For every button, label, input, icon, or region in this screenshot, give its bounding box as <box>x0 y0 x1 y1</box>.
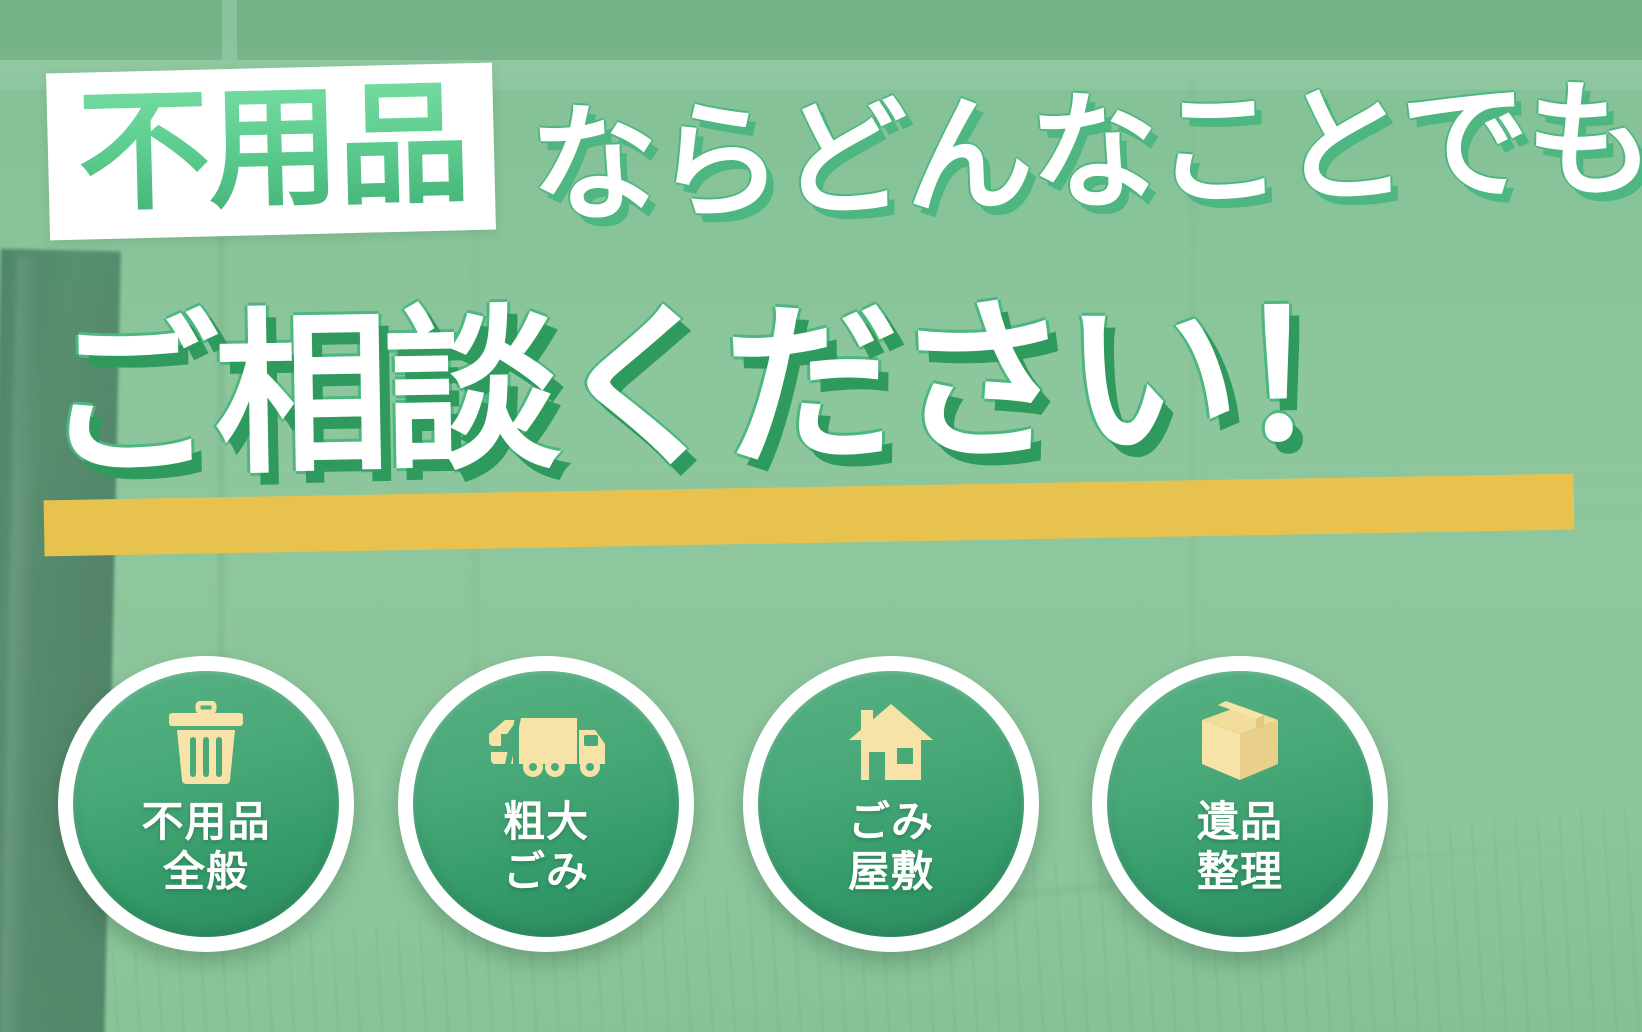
highlight-box-text: 不用品 <box>76 77 469 221</box>
highlight-box: 不用品 <box>46 63 496 240</box>
trash-can-icon <box>167 701 245 785</box>
badge-label: 不用品 全般 <box>141 797 270 896</box>
badge-label-line-1: 粗大 <box>503 797 589 847</box>
badge-label: 粗大 ごみ <box>503 797 589 896</box>
headline-line-1: 不用品 ならどんなことでも <box>48 68 1642 235</box>
garbage-truck-icon <box>485 701 607 785</box>
cardboard-box-icon <box>1196 701 1284 785</box>
badge-inner: 遺品 整理 <box>1107 671 1373 937</box>
badge-label-line-2: ごみ <box>503 847 589 897</box>
badge-label-line-1: 遺品 <box>1197 797 1283 847</box>
service-badge-row: 不用品 全般 粗大 ご <box>0 648 1642 978</box>
service-badge-general-waste[interactable]: 不用品 全般 <box>58 656 354 952</box>
service-badge-estate-cleanup[interactable]: 遺品 整理 <box>1092 656 1388 952</box>
badge-label: 遺品 整理 <box>1197 797 1283 896</box>
headline-line-1-rest: ならどんなことでも <box>529 76 1642 231</box>
badge-label-line-2: 整理 <box>1197 847 1283 897</box>
badge-label-line-2: 全般 <box>141 847 270 897</box>
house-icon <box>847 701 935 785</box>
service-badge-bulky-waste[interactable]: 粗大 ごみ <box>398 656 694 952</box>
headline-group: 不用品 ならどんなことでも ご相談ください！ <box>0 0 1642 620</box>
badge-inner: 不用品 全般 <box>73 671 339 937</box>
badge-inner: 粗大 ごみ <box>413 671 679 937</box>
badge-label: ごみ 屋敷 <box>848 797 934 896</box>
badge-label-line-1: ごみ <box>848 797 934 847</box>
headline-line-2: ご相談ください！ <box>43 288 1406 488</box>
service-badge-hoarder-house[interactable]: ごみ 屋敷 <box>743 656 1039 952</box>
badge-label-line-1: 不用品 <box>141 797 270 847</box>
badge-inner: ごみ 屋敷 <box>758 671 1024 937</box>
badge-label-line-2: 屋敷 <box>848 847 934 897</box>
